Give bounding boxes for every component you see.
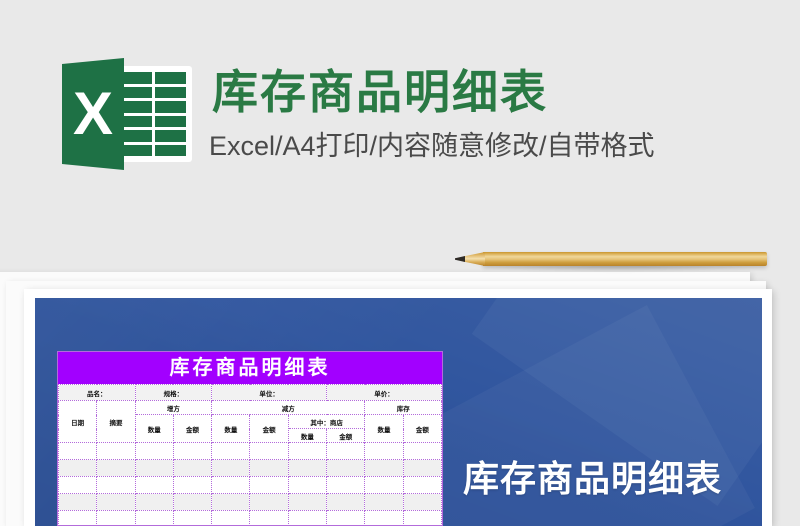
table-cell[interactable] bbox=[327, 494, 365, 511]
table-cell[interactable] bbox=[288, 443, 326, 460]
table-cell[interactable] bbox=[97, 477, 135, 494]
header-subgroup-shop: 其中：商店 bbox=[288, 415, 365, 429]
table-cell[interactable] bbox=[365, 460, 403, 477]
pencil-decoration bbox=[455, 252, 767, 268]
table-row[interactable] bbox=[59, 511, 442, 526]
table-cell[interactable] bbox=[135, 477, 173, 494]
table-cell[interactable] bbox=[173, 494, 211, 511]
table-cell[interactable] bbox=[97, 443, 135, 460]
excel-logo-grid bbox=[120, 72, 186, 156]
table-cell[interactable] bbox=[135, 494, 173, 511]
table-cell[interactable] bbox=[250, 477, 288, 494]
table-row[interactable] bbox=[59, 477, 442, 494]
inventory-table: 品名： 规格： 单位： 单价： 日期 摘要 增方 减方 库存 数量 金额 数量 … bbox=[58, 384, 442, 526]
table-cell[interactable] bbox=[173, 477, 211, 494]
table-cell[interactable] bbox=[365, 443, 403, 460]
table-cell[interactable] bbox=[59, 477, 97, 494]
table-cell[interactable] bbox=[97, 460, 135, 477]
header-group-increase: 增方 bbox=[135, 401, 212, 415]
excel-logo-icon: X bbox=[62, 58, 194, 170]
excel-logo-letter: X bbox=[62, 58, 124, 170]
page-title: 库存商品明细表 bbox=[212, 64, 548, 120]
table-cell[interactable] bbox=[97, 494, 135, 511]
header-shop-amount: 金额 bbox=[327, 429, 365, 443]
table-cell[interactable] bbox=[288, 477, 326, 494]
table-cell[interactable] bbox=[327, 511, 365, 526]
table-cell[interactable] bbox=[212, 477, 250, 494]
header-band: X 库存商品明细表 Excel/A4打印/内容随意修改/自带格式 bbox=[0, 0, 800, 200]
table-cell[interactable] bbox=[59, 443, 97, 460]
header-decrease-qty: 数量 bbox=[212, 415, 250, 443]
header-stock-qty: 数量 bbox=[365, 415, 403, 443]
header-decrease-amount: 金额 bbox=[250, 415, 288, 443]
table-cell[interactable] bbox=[250, 443, 288, 460]
table-cell[interactable] bbox=[365, 494, 403, 511]
table-row[interactable] bbox=[59, 460, 442, 477]
header-stock-amount: 金额 bbox=[403, 415, 441, 443]
table-cell[interactable] bbox=[327, 477, 365, 494]
table-cell[interactable] bbox=[135, 511, 173, 526]
info-cell-product-name: 品名： bbox=[59, 385, 136, 401]
table-cell[interactable] bbox=[135, 443, 173, 460]
table-cell[interactable] bbox=[173, 511, 211, 526]
pencil-graphite bbox=[455, 256, 465, 262]
table-header-group-row: 日期 摘要 增方 减方 库存 bbox=[59, 401, 442, 415]
header-group-decrease: 减方 bbox=[212, 401, 365, 415]
table-cell[interactable] bbox=[403, 494, 441, 511]
table-row[interactable] bbox=[59, 494, 442, 511]
table-cell[interactable] bbox=[327, 460, 365, 477]
table-cell[interactable] bbox=[250, 460, 288, 477]
table-cell[interactable] bbox=[403, 477, 441, 494]
table-cell[interactable] bbox=[135, 460, 173, 477]
table-cell[interactable] bbox=[403, 460, 441, 477]
info-cell-unit: 单位： bbox=[212, 385, 327, 401]
table-cell[interactable] bbox=[365, 477, 403, 494]
table-cell[interactable] bbox=[250, 511, 288, 526]
sheet-title: 库存商品明细表 bbox=[58, 352, 442, 384]
table-cell[interactable] bbox=[288, 511, 326, 526]
header-increase-amount: 金额 bbox=[173, 415, 211, 443]
table-cell[interactable] bbox=[327, 443, 365, 460]
table-row[interactable] bbox=[59, 443, 442, 460]
header-shop-qty: 数量 bbox=[288, 429, 326, 443]
excel-logo-sheet bbox=[114, 66, 192, 162]
table-cell[interactable] bbox=[288, 460, 326, 477]
header-date: 日期 bbox=[59, 401, 97, 443]
table-cell[interactable] bbox=[212, 443, 250, 460]
table-cell[interactable] bbox=[97, 511, 135, 526]
table-cell[interactable] bbox=[59, 494, 97, 511]
table-body bbox=[59, 443, 442, 526]
info-cell-spec: 规格： bbox=[135, 385, 212, 401]
table-cell[interactable] bbox=[288, 494, 326, 511]
table-info-row: 品名： 规格： 单位： 单价： bbox=[59, 385, 442, 401]
info-cell-price: 单价： bbox=[327, 385, 442, 401]
pencil-barrel bbox=[483, 252, 767, 266]
pencil-tip-wood bbox=[463, 252, 485, 266]
table-cell[interactable] bbox=[59, 511, 97, 526]
table-cell[interactable] bbox=[173, 460, 211, 477]
table-cell[interactable] bbox=[250, 494, 288, 511]
page-subtitle: Excel/A4打印/内容随意修改/自带格式 bbox=[209, 129, 655, 163]
header-group-stock: 库存 bbox=[365, 401, 442, 415]
table-cell[interactable] bbox=[173, 443, 211, 460]
table-cell[interactable] bbox=[403, 443, 441, 460]
slide-caption: 库存商品明细表 bbox=[463, 457, 722, 501]
table-cell[interactable] bbox=[212, 494, 250, 511]
table-cell[interactable] bbox=[365, 511, 403, 526]
table-cell[interactable] bbox=[212, 511, 250, 526]
table-cell[interactable] bbox=[403, 511, 441, 526]
table-cell[interactable] bbox=[59, 460, 97, 477]
spreadsheet-preview[interactable]: 库存商品明细表 品名： 规格： 单位： 单价： 日期 摘要 增方 减方 库存 数… bbox=[57, 351, 443, 526]
table-cell[interactable] bbox=[212, 460, 250, 477]
header-increase-qty: 数量 bbox=[135, 415, 173, 443]
pencil-shadow bbox=[471, 265, 767, 272]
header-summary: 摘要 bbox=[97, 401, 135, 443]
